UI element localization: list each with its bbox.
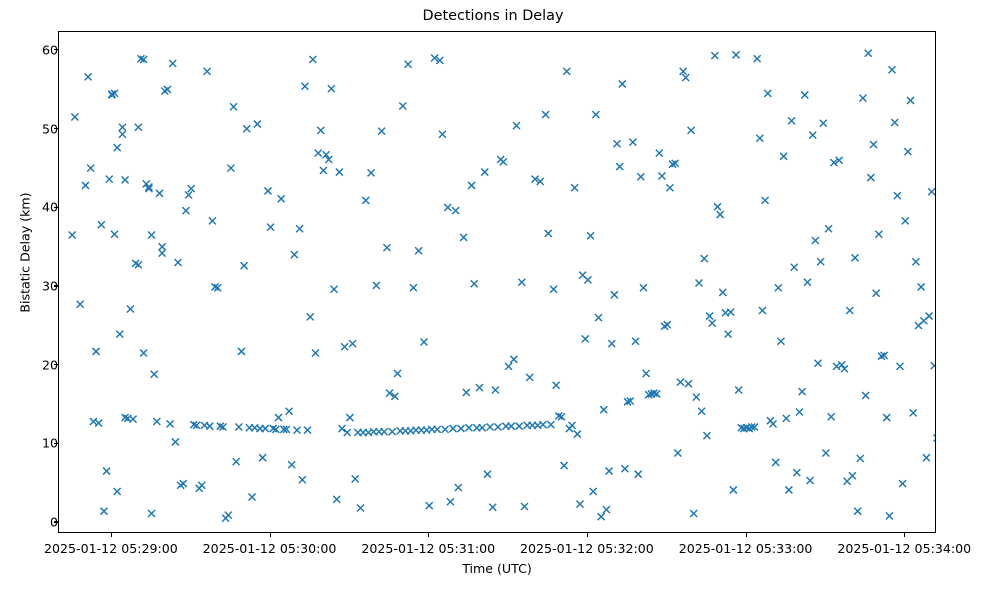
scatter-marker	[833, 363, 840, 370]
scatter-marker	[584, 276, 591, 283]
scatter-marker	[410, 284, 417, 291]
scatter-marker	[127, 305, 134, 312]
scatter-marker	[717, 211, 724, 218]
scatter-marker	[457, 425, 464, 432]
scatter-marker	[241, 262, 248, 269]
scatter-marker	[762, 197, 769, 204]
scatter-marker	[793, 469, 800, 476]
scatter-marker	[513, 122, 520, 129]
scatter-marker	[563, 68, 570, 75]
scatter-marker	[608, 340, 615, 347]
scatter-marker	[275, 414, 282, 421]
scatter-marker	[225, 512, 232, 519]
scatter-marker	[304, 427, 311, 434]
scatter-marker	[336, 169, 343, 176]
scatter-marker	[357, 505, 364, 512]
scatter-marker	[714, 203, 721, 210]
scatter-marker	[264, 187, 271, 194]
scatter-marker	[130, 416, 137, 423]
scatter-marker	[87, 165, 94, 172]
x-tick-mark	[904, 533, 905, 537]
scatter-marker	[777, 338, 784, 345]
scatter-marker	[235, 423, 242, 430]
scatter-marker	[479, 424, 486, 431]
scatter-marker	[344, 429, 351, 436]
scatter-marker	[135, 124, 142, 131]
scatter-marker	[182, 207, 189, 214]
scatter-marker	[907, 97, 914, 104]
scatter-marker	[82, 182, 89, 189]
scatter-marker	[175, 259, 182, 266]
y-tick-label: 0	[16, 514, 58, 529]
scatter-marker	[923, 454, 930, 461]
scatter-marker	[934, 435, 937, 442]
scatter-marker	[159, 243, 166, 250]
scatter-marker	[378, 128, 385, 135]
scatter-marker	[701, 255, 708, 262]
scatter-marker	[854, 508, 861, 515]
scatter-marker	[706, 313, 713, 320]
scatter-marker	[733, 51, 740, 58]
scatter-marker	[680, 68, 687, 75]
scatter-marker	[698, 408, 705, 415]
scatter-marker	[383, 244, 390, 251]
scatter-marker	[685, 380, 692, 387]
scatter-marker	[346, 414, 353, 421]
scatter-marker	[505, 363, 512, 370]
scatter-marker	[338, 425, 345, 432]
scatter-marker	[902, 217, 909, 224]
scatter-marker	[307, 313, 314, 320]
scatter-marker	[785, 486, 792, 493]
scatter-marker	[576, 501, 583, 508]
scatter-marker	[71, 113, 78, 120]
scatter-marker	[719, 289, 726, 296]
scatter-marker	[90, 418, 97, 425]
scatter-marker	[405, 61, 412, 68]
scatter-marker	[167, 420, 174, 427]
scatter-marker	[886, 512, 893, 519]
x-axis-ticks: 2025-01-12 05:29:002025-01-12 05:30:0020…	[58, 533, 936, 563]
scatter-marker	[381, 428, 388, 435]
scatter-marker	[658, 172, 665, 179]
scatter-marker	[561, 462, 568, 469]
x-tick-mark	[270, 533, 271, 537]
scatter-marker	[571, 184, 578, 191]
scatter-marker	[172, 438, 179, 445]
scatter-marker	[119, 124, 126, 131]
scatter-marker	[98, 221, 105, 228]
scatter-marker	[862, 392, 869, 399]
scatter-marker	[164, 86, 171, 93]
scatter-marker	[500, 158, 507, 165]
scatter-marker	[135, 261, 142, 268]
scatter-marker	[804, 279, 811, 286]
scatter-marker	[331, 286, 338, 293]
scatter-marker	[468, 182, 475, 189]
scatter-marker	[587, 232, 594, 239]
scatter-marker	[611, 291, 618, 298]
scatter-marker	[243, 125, 250, 132]
scatter-marker	[463, 389, 470, 396]
scatter-marker	[317, 127, 324, 134]
scatter-marker	[770, 420, 777, 427]
scatter-marker	[516, 423, 523, 430]
scatter-marker	[484, 471, 491, 478]
scatter-marker	[301, 83, 308, 90]
scatter-marker	[666, 184, 673, 191]
scatter-marker	[928, 188, 935, 195]
scatter-marker	[828, 413, 835, 420]
scatter-marker	[227, 165, 234, 172]
scatter-marker	[148, 232, 155, 239]
scatter-marker	[249, 494, 256, 501]
scatter-marker	[867, 174, 874, 181]
scatter-marker	[198, 482, 205, 489]
scatter-marker	[495, 423, 502, 430]
scatter-marker	[553, 382, 560, 389]
chart-title: Detections in Delay	[0, 8, 986, 24]
scatter-marker	[455, 484, 462, 491]
scatter-marker	[616, 163, 623, 170]
scatter-marker	[606, 468, 613, 475]
scatter-marker	[870, 141, 877, 148]
scatter-marker	[116, 331, 123, 338]
scatter-marker	[926, 313, 933, 320]
scatter-marker	[730, 486, 737, 493]
scatter-marker	[550, 286, 557, 293]
scatter-marker	[508, 423, 515, 430]
scatter-marker	[677, 379, 684, 386]
scatter-marker	[690, 510, 697, 517]
scatter-marker	[444, 204, 451, 211]
scatter-marker	[296, 225, 303, 232]
scatter-marker	[904, 148, 911, 155]
scatter-marker	[476, 384, 483, 391]
scatter-marker	[254, 121, 261, 128]
scatter-marker	[545, 230, 552, 237]
scatter-marker	[341, 343, 348, 350]
scatter-marker	[725, 331, 732, 338]
y-axis-ticks: 0102030405060	[8, 31, 58, 533]
scatter-marker	[812, 237, 819, 244]
scatter-marker	[489, 504, 496, 511]
scatter-marker	[492, 387, 499, 394]
scatter-marker	[595, 314, 602, 321]
scatter-marker	[674, 449, 681, 456]
scatter-marker	[93, 348, 100, 355]
scatter-marker	[204, 68, 211, 75]
scatter-marker	[394, 370, 401, 377]
matplotlib-figure: Detections in Delay 0102030405060 Bistat…	[0, 0, 986, 590]
x-tick-mark	[111, 533, 112, 537]
scatter-marker	[682, 74, 689, 81]
scatter-marker	[140, 350, 147, 357]
scatter-marker	[156, 190, 163, 197]
scatter-marker	[825, 225, 832, 232]
scatter-marker	[238, 348, 245, 355]
scatter-marker	[809, 132, 816, 139]
scatter-marker	[640, 284, 647, 291]
scatter-marker	[294, 427, 301, 434]
scatter-marker	[309, 56, 316, 63]
scatter-marker	[188, 185, 195, 192]
scatter-marker	[77, 301, 84, 308]
scatter-marker	[764, 90, 771, 97]
scatter-marker	[754, 55, 761, 62]
scatter-marker	[693, 394, 700, 401]
scatter-marker	[122, 176, 129, 183]
x-tick-mark	[746, 533, 747, 537]
scatter-marker	[259, 454, 266, 461]
scatter-marker	[796, 409, 803, 416]
scatter-marker	[85, 73, 92, 80]
scatter-marker	[521, 503, 528, 510]
scatter-marker	[159, 250, 166, 257]
scatter-marker	[703, 432, 710, 439]
scatter-marker	[711, 52, 718, 59]
scatter-marker	[510, 356, 517, 363]
scatter-marker	[759, 307, 766, 314]
scatter-marker	[487, 423, 494, 430]
scatter-marker	[857, 455, 864, 462]
scatter-marker	[299, 476, 306, 483]
scatter-marker	[912, 258, 919, 265]
y-axis-label: Bistatic Delay (km)	[18, 23, 33, 483]
scatter-marker	[206, 423, 213, 430]
x-tick-mark	[428, 533, 429, 537]
x-axis-label: Time (UTC)	[58, 561, 936, 576]
scatter-marker	[788, 117, 795, 124]
scatter-marker	[185, 191, 192, 198]
scatter-marker	[233, 458, 240, 465]
scatter-marker	[447, 498, 454, 505]
scatter-marker	[286, 408, 293, 415]
scatter-marker	[399, 102, 406, 109]
scatter-marker	[632, 338, 639, 345]
scatter-marker	[333, 496, 340, 503]
scatter-marker	[119, 131, 126, 138]
scatter-marker	[465, 424, 472, 431]
scatter-marker	[875, 231, 882, 238]
scatter-marker	[883, 414, 890, 421]
scatter-marker	[799, 388, 806, 395]
x-tick-label: 2025-01-12 05:34:00	[804, 541, 986, 556]
scatter-marker	[349, 340, 356, 347]
scatter-marker	[756, 135, 763, 142]
scatter-marker	[542, 111, 549, 118]
scatter-marker	[426, 502, 433, 509]
scatter-marker	[420, 339, 427, 346]
scatter-marker	[471, 280, 478, 287]
scatter-marker	[896, 363, 903, 370]
scatter-marker	[582, 335, 589, 342]
scatter-marker	[230, 103, 237, 110]
scatter-marker	[814, 360, 821, 367]
scatter-marker	[574, 431, 581, 438]
scatter-marker	[629, 139, 636, 146]
scatter-marker	[111, 231, 118, 238]
scatter-marker	[891, 119, 898, 126]
scatter-marker	[772, 459, 779, 466]
scatter-marker	[727, 309, 734, 316]
scatter-marker	[709, 320, 716, 327]
scatter-marker	[103, 468, 110, 475]
scatter-marker	[278, 195, 285, 202]
scatter-marker	[695, 280, 702, 287]
scatter-marker	[209, 217, 216, 224]
scatter-marker	[539, 421, 546, 428]
scatter-marker	[910, 409, 917, 416]
scatter-marker	[841, 365, 848, 372]
scatter-marker	[95, 420, 102, 427]
scatter-marker	[820, 120, 827, 127]
scatter-marker	[312, 350, 319, 357]
scatter-marker	[918, 283, 925, 290]
scatter-marker	[518, 279, 525, 286]
scatter-marker	[846, 307, 853, 314]
scatter-marker	[415, 247, 422, 254]
scatter-marker	[889, 66, 896, 73]
scatter-marker	[262, 425, 269, 432]
scatter-marker	[635, 471, 642, 478]
x-tick-mark	[587, 533, 588, 537]
scatter-marker	[780, 153, 787, 160]
scatter-marker	[328, 85, 335, 92]
scatter-points	[59, 32, 936, 533]
scatter-marker	[592, 111, 599, 118]
plot-area	[58, 31, 936, 533]
scatter-marker	[688, 127, 695, 134]
scatter-marker	[315, 150, 322, 157]
scatter-marker	[153, 418, 160, 425]
scatter-marker	[817, 258, 824, 265]
scatter-marker	[791, 264, 798, 271]
scatter-marker	[106, 176, 113, 183]
scatter-marker	[481, 169, 488, 176]
scatter-marker	[643, 370, 650, 377]
scatter-marker	[288, 461, 295, 468]
scatter-marker	[600, 406, 607, 413]
scatter-marker	[775, 284, 782, 291]
scatter-marker	[526, 374, 533, 381]
scatter-marker	[368, 169, 375, 176]
scatter-marker	[362, 197, 369, 204]
scatter-marker	[590, 488, 597, 495]
scatter-marker	[389, 428, 396, 435]
scatter-marker	[735, 387, 742, 394]
scatter-marker	[151, 371, 158, 378]
scatter-marker	[614, 140, 621, 147]
scatter-marker	[439, 131, 446, 138]
scatter-marker	[664, 321, 671, 328]
scatter-marker	[619, 80, 626, 87]
scatter-marker	[320, 167, 327, 174]
scatter-marker	[852, 254, 859, 261]
scatter-marker	[859, 95, 866, 102]
scatter-marker	[434, 426, 441, 433]
scatter-marker	[801, 91, 808, 98]
scatter-marker	[169, 60, 176, 67]
scatter-marker	[849, 472, 856, 479]
scatter-marker	[373, 282, 380, 289]
scatter-marker	[547, 421, 554, 428]
scatter-marker	[452, 207, 459, 214]
scatter-marker	[822, 449, 829, 456]
scatter-marker	[148, 510, 155, 517]
scatter-marker	[656, 150, 663, 157]
scatter-marker	[598, 513, 605, 520]
scatter-marker	[865, 50, 872, 57]
scatter-marker	[352, 475, 359, 482]
scatter-marker	[931, 362, 936, 369]
scatter-marker	[69, 232, 76, 239]
scatter-marker	[114, 488, 121, 495]
scatter-marker	[899, 480, 906, 487]
scatter-marker	[180, 480, 187, 487]
scatter-marker	[442, 426, 449, 433]
scatter-marker	[783, 415, 790, 422]
scatter-marker	[450, 425, 457, 432]
scatter-marker	[807, 477, 814, 484]
scatter-marker	[114, 144, 121, 151]
scatter-marker	[460, 234, 467, 241]
scatter-marker	[621, 465, 628, 472]
scatter-marker	[838, 361, 845, 368]
scatter-marker	[637, 173, 644, 180]
scatter-marker	[291, 251, 298, 258]
scatter-marker	[603, 506, 610, 513]
scatter-marker	[267, 224, 274, 231]
scatter-marker	[873, 290, 880, 297]
scatter-marker	[569, 422, 576, 429]
scatter-marker	[100, 508, 107, 515]
scatter-marker	[894, 192, 901, 199]
